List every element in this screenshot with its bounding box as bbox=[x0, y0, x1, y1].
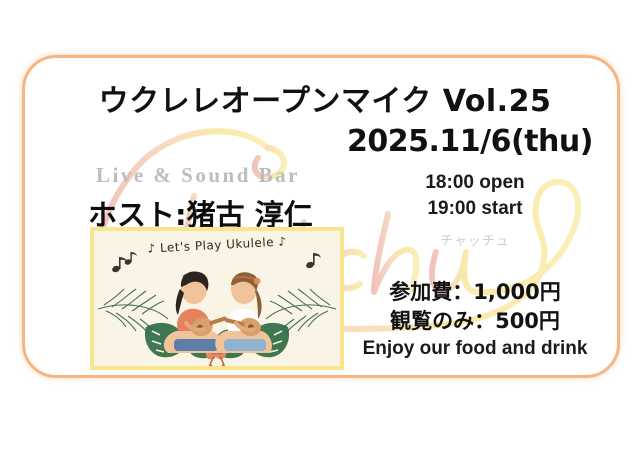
pricing-block: 参加費：1,000円 観覧のみ：500円 Enjoy our food and … bbox=[350, 278, 600, 360]
page-title: ウクレレオープンマイク Vol.25 bbox=[0, 76, 640, 120]
venue-name: Live & Sound Bar bbox=[96, 163, 300, 188]
schedule-block: 18:00 open 19:00 start チャッチュ bbox=[350, 170, 600, 249]
ukulele-illustration: ♪ Let's Play Ukulele ♪ bbox=[90, 227, 344, 370]
enjoy-note: Enjoy our food and drink bbox=[350, 338, 600, 360]
venue-kana: チャッチュ bbox=[350, 230, 600, 249]
entry-fee: 参加費：1,000円 bbox=[350, 278, 600, 307]
poster-canvas: ウクレレオープンマイク Vol.25 2025.11/6(thu) Live &… bbox=[0, 0, 640, 452]
start-time: 19:00 start bbox=[350, 196, 600, 222]
open-time: 18:00 open bbox=[350, 170, 600, 196]
ukulele-illustration-art bbox=[94, 231, 340, 366]
event-date: 2025.11/6(thu) bbox=[330, 124, 610, 159]
spectator-fee: 観覧のみ：500円 bbox=[350, 307, 600, 336]
